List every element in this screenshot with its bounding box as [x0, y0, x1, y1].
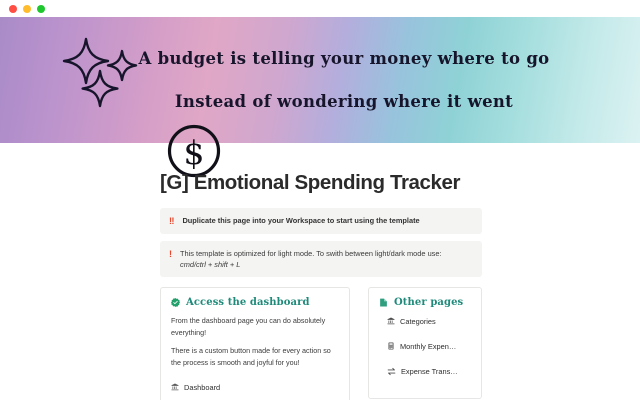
- card-access-dashboard-paragraph-1: From the dashboard page you can do absol…: [171, 315, 339, 338]
- card-other-pages-header: Other pages: [379, 297, 471, 308]
- banner-line-1: A budget is telling your money where to …: [48, 51, 640, 68]
- page-link-expense-transactions[interactable]: Expense Trans…: [379, 359, 471, 384]
- page-cover-banner: A budget is telling your money where to …: [0, 17, 640, 143]
- page-link-dashboard[interactable]: Dashboard: [171, 383, 339, 392]
- window-minimize-button[interactable]: [23, 5, 31, 13]
- other-pages-link-list: Categories: [379, 315, 471, 384]
- window-titlebar: [0, 0, 640, 17]
- page-link-categories[interactable]: Categories: [379, 315, 471, 334]
- card-other-pages-title: Other pages: [394, 297, 463, 308]
- page-link-monthly-expenses[interactable]: Monthly Expen…: [379, 334, 471, 359]
- exclamation-icon: !: [169, 248, 172, 270]
- card-access-dashboard-title: Access the dashboard: [186, 297, 310, 308]
- bank-icon: [387, 317, 395, 325]
- calculator-icon: [387, 342, 395, 350]
- page-document-icon: [379, 298, 388, 307]
- callout-light-mode-sentence: This template is optimized for light mod…: [180, 249, 442, 258]
- double-exclamation-icon: ‼: [169, 215, 174, 227]
- card-access-dashboard-paragraph-2: There is a custom button made for every …: [171, 345, 339, 368]
- card-access-dashboard-header: Access the dashboard: [171, 297, 339, 308]
- card-access-dashboard: Access the dashboard From the dashboard …: [160, 287, 350, 400]
- card-other-pages: Other pages Categories: [368, 287, 482, 399]
- column-left: Access the dashboard From the dashboard …: [160, 287, 350, 400]
- page-title: [G] Emotional Spending Tracker: [160, 171, 482, 195]
- bank-icon: [171, 383, 179, 391]
- page-link-dashboard-label: Dashboard: [184, 383, 220, 392]
- callout-duplicate-page: ‼ Duplicate this page into your Workspac…: [160, 208, 482, 234]
- page-link-categories-label: Categories: [400, 317, 436, 326]
- page-body: [G] Emotional Spending Tracker ‼ Duplica…: [0, 143, 640, 400]
- page-link-monthly-expenses-label: Monthly Expen…: [400, 342, 456, 351]
- transfer-icon: [387, 367, 396, 376]
- callout-shortcut-code: cmd/ctrl + shift + L: [180, 259, 442, 270]
- banner-line-2: Instead of wondering where it went: [48, 94, 640, 111]
- column-right: Other pages Categories: [368, 287, 482, 400]
- callout-duplicate-text: Duplicate this page into your Workspace …: [182, 215, 419, 227]
- window-maximize-button[interactable]: [37, 5, 45, 13]
- page-link-expense-transactions-label: Expense Trans…: [401, 367, 458, 376]
- callout-light-mode: ! This template is optimized for light m…: [160, 241, 482, 277]
- callout-light-mode-text: This template is optimized for light mod…: [180, 248, 442, 270]
- banner-headings: A budget is telling your money where to …: [0, 51, 640, 110]
- cards-columns: Access the dashboard From the dashboard …: [160, 287, 482, 400]
- verified-check-icon: [171, 298, 180, 307]
- window-close-button[interactable]: [9, 5, 17, 13]
